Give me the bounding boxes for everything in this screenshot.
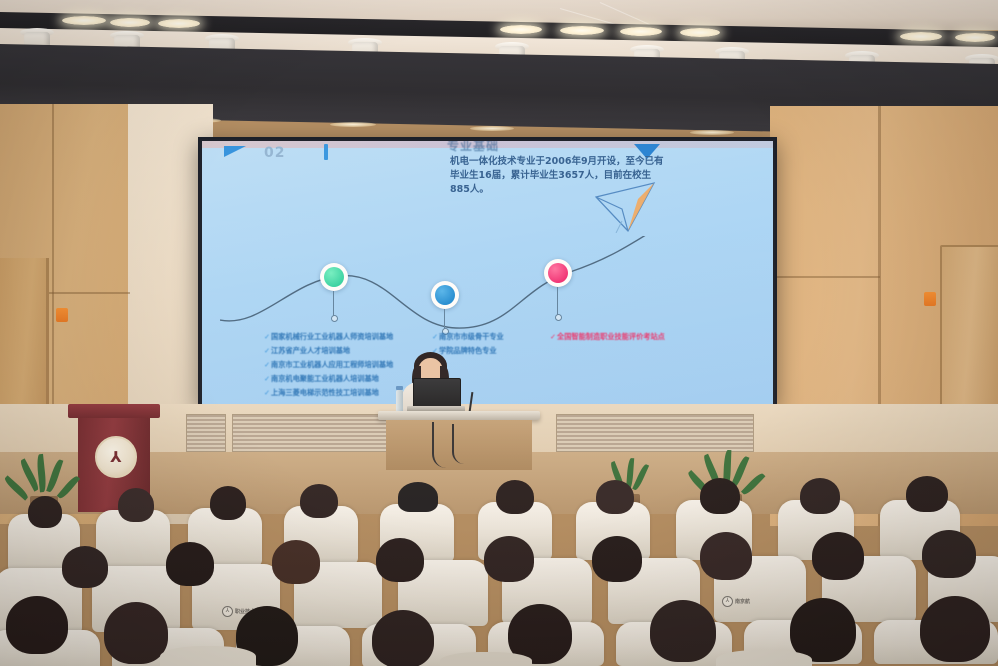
beam-lamp <box>900 32 942 41</box>
triangle-accent-icon <box>224 146 246 157</box>
audience-head <box>496 480 534 514</box>
slide-title: 专业基础 <box>447 141 647 154</box>
seat-branding: ⅄ 南京航 <box>722 596 750 607</box>
check-icon: ✓ <box>264 331 271 343</box>
audience-head <box>650 600 716 662</box>
timeline-node-green <box>320 263 348 291</box>
beam-lamp <box>620 27 662 36</box>
audience-head <box>62 546 108 588</box>
audience-shoulder <box>440 652 532 666</box>
cove-light <box>470 126 514 131</box>
bullet-column-2: ✓南京市市级骨干专业 ✓学院品牌特色专业 <box>432 331 504 359</box>
list-item: ✓南京机电聚能工业机器人培训基地 <box>264 373 393 385</box>
check-icon: ✓ <box>264 387 271 399</box>
beam-lamp <box>680 28 720 37</box>
audience-head <box>118 488 154 522</box>
wall-sign-orange-right <box>924 292 936 306</box>
audience-head <box>372 610 434 666</box>
beam-lamp <box>110 18 150 27</box>
cable-2 <box>452 424 464 464</box>
audience-head-cap <box>398 482 438 512</box>
audience-head <box>800 478 840 514</box>
wall-vent-louver <box>232 414 400 452</box>
timeline-node-pink <box>544 259 572 287</box>
list-item: ✓全国智能制造职业技能评价考站点 <box>550 331 665 343</box>
audience-head <box>300 484 338 518</box>
bullet-column-1: ✓国家机械行业工业机器人师资培训基地 ✓江苏省产业人才培训基地 ✓南京市工业机器… <box>264 331 393 401</box>
audience-head <box>596 480 634 514</box>
audience-head <box>104 602 168 664</box>
paper-plane-icon <box>592 181 662 233</box>
slide-divider-bar <box>324 144 328 160</box>
timeline-node-blue <box>431 281 459 309</box>
beam-lamp <box>158 19 200 28</box>
audience-head <box>592 536 642 582</box>
wall-vent-louver <box>556 414 754 452</box>
slide-content: 02 专业基础 机电一体化技术专业于2006年9月开设，至今已有毕业生16届，累… <box>202 141 773 404</box>
seat-seal-icon: ⅄ <box>222 606 233 617</box>
audience-head <box>484 536 534 582</box>
audience-head <box>922 530 976 578</box>
audience-head <box>376 538 424 582</box>
cable <box>432 422 448 468</box>
podium-top <box>68 404 160 418</box>
check-icon: ✓ <box>550 331 557 343</box>
audience-area: ⅄ 职业技术学院 ⅄ 南京航 ⅄ 南京航 <box>0 470 998 666</box>
beam-lamp <box>955 33 995 42</box>
audience-head <box>812 532 864 580</box>
audience-shoulder <box>160 646 256 666</box>
list-item: ✓江苏省产业人才培训基地 <box>264 345 393 357</box>
list-item: ✓南京市市级骨干专业 <box>432 331 504 343</box>
projection-screen: 02 专业基础 机电一体化技术专业于2006年9月开设，至今已有毕业生16届，累… <box>198 137 777 408</box>
audience-head <box>210 486 246 520</box>
node-dot-green <box>331 315 338 322</box>
slide-section-number: 02 <box>264 145 285 161</box>
bullet-column-3: ✓全国智能制造职业技能评价考站点 <box>550 331 665 345</box>
seat-seal-icon: ⅄ <box>722 596 733 607</box>
list-item: ✓国家机械行业工业机器人师资培训基地 <box>264 331 393 343</box>
wall-vent-louver <box>186 414 226 452</box>
auditorium-photo: 02 专业基础 机电一体化技术专业于2006年9月开设，至今已有毕业生16届，累… <box>0 0 998 666</box>
beam-lamp <box>500 25 542 34</box>
timeline-curve <box>220 236 760 344</box>
beam-lamp <box>62 16 106 25</box>
node-stem-green <box>333 291 334 316</box>
list-item: ✓南京市工业机器人应用工程师培训基地 <box>264 359 393 371</box>
node-dot-pink <box>555 314 562 321</box>
audience-head <box>906 476 948 512</box>
audience-shoulder <box>716 650 812 666</box>
check-icon: ✓ <box>264 373 271 385</box>
wall-sign-orange-left <box>56 308 68 322</box>
list-item: ✓学院品牌特色专业 <box>432 345 504 357</box>
beam-lamp <box>560 26 604 35</box>
cove-light <box>690 130 734 135</box>
presenter-table-top <box>378 411 540 420</box>
audience-head <box>700 478 740 514</box>
cove-light <box>330 122 376 127</box>
seat-label: 南京航 <box>735 598 750 605</box>
node-stem-blue <box>444 309 445 329</box>
audience-head <box>166 542 214 586</box>
check-icon: ✓ <box>264 345 271 357</box>
audience-head <box>700 532 752 580</box>
audience-head <box>920 596 990 662</box>
check-icon: ✓ <box>432 331 439 343</box>
list-item: ✓上海三菱电梯示范性技工培训基地 <box>264 387 393 399</box>
node-stem-pink <box>557 287 558 315</box>
seal-figure-icon: ⅄ <box>110 448 123 466</box>
audience-head <box>272 540 320 584</box>
wall-seam-right-h <box>770 276 880 278</box>
audience-head <box>28 496 62 528</box>
water-bottle <box>396 390 403 412</box>
audience-head <box>6 596 68 654</box>
check-icon: ✓ <box>264 359 271 371</box>
